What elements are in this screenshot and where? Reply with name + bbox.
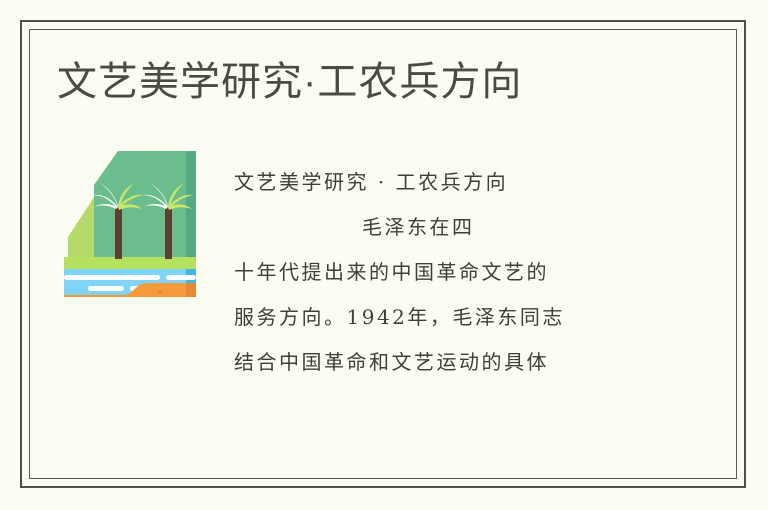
island-beach-illustration bbox=[60, 145, 208, 297]
body-text-block: 文艺美学研究 · 工农兵方向 毛泽东在四 十年代提出来的中国革命文艺的 服务方向… bbox=[234, 160, 654, 385]
island-beach-icon bbox=[60, 145, 208, 297]
body-line: 十年代提出来的中国革命文艺的 bbox=[234, 250, 654, 295]
page-title: 文艺美学研究·工农兵方向 bbox=[57, 58, 522, 106]
body-line: 文艺美学研究 · 工农兵方向 bbox=[234, 160, 654, 205]
poster-page: 文艺美学研究·工农兵方向 bbox=[0, 0, 768, 510]
body-line: 结合中国革命和文艺运动的具体 bbox=[234, 340, 654, 385]
body-line: 毛泽东在四 bbox=[234, 205, 654, 250]
body-line: 服务方向。1942年，毛泽东同志 bbox=[234, 295, 654, 340]
